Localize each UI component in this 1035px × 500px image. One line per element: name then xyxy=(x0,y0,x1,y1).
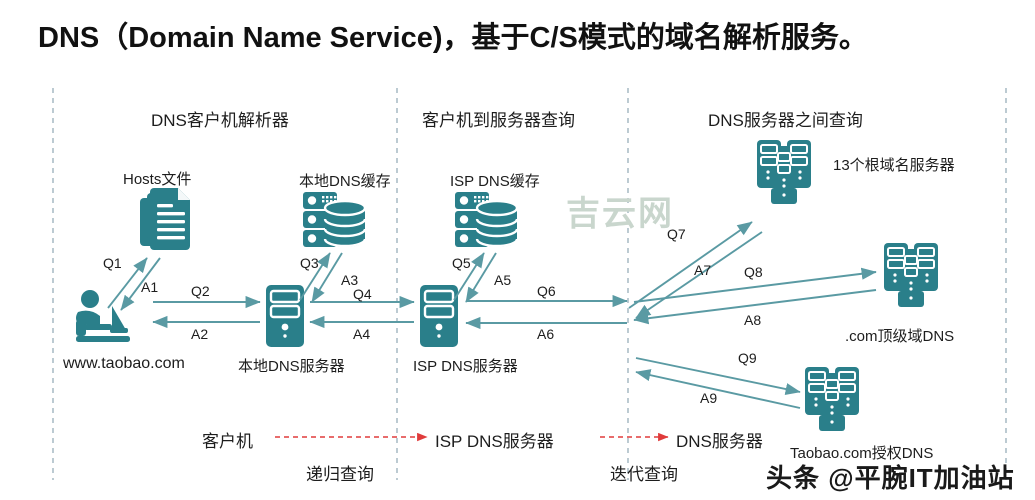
flow-step-isp-server: ISP DNS服务器 xyxy=(435,427,554,452)
message-label-a8: A8 xyxy=(744,312,761,328)
message-label-q4: Q4 xyxy=(353,286,372,302)
node-label-tld-dns: .com顶级域DNS xyxy=(845,325,954,346)
diagram-graphics xyxy=(0,0,1035,500)
node-label-client: www.taobao.com xyxy=(63,355,185,373)
database-rack-icon xyxy=(455,192,517,247)
message-label-a6: A6 xyxy=(537,326,554,342)
message-label-a2: A2 xyxy=(191,326,208,342)
watermark-bottom: 头条 @平腕IT加油站 xyxy=(766,458,1015,495)
diagram-canvas: DNS（Domain Name Service)，基于C/S模式的域名解析服务。 xyxy=(0,0,1035,500)
arrow-q9 xyxy=(636,358,800,392)
server-tower-icon xyxy=(420,285,458,347)
message-label-q8: Q8 xyxy=(744,264,763,280)
watermark-middle: 吉云网 xyxy=(566,186,674,235)
server-cluster-icon xyxy=(757,140,811,204)
flow-step-client: 客户机 xyxy=(202,427,253,452)
column-header-server-to-server: DNS服务器之间查询 xyxy=(708,106,863,131)
message-label-q6: Q6 xyxy=(537,283,556,299)
document-stack-icon xyxy=(140,188,190,250)
flow-arrow-label-iterative: 迭代查询 xyxy=(610,460,678,485)
arrow-a9 xyxy=(636,372,800,408)
message-label-a7: A7 xyxy=(694,262,711,278)
message-label-q2: Q2 xyxy=(191,283,210,299)
person-laptop-icon xyxy=(76,290,130,342)
message-label-q3: Q3 xyxy=(300,255,319,271)
message-label-q5: Q5 xyxy=(452,255,471,271)
node-label-isp-dns-cache: ISP DNS缓存 xyxy=(450,170,540,191)
node-label-isp-dns-server: ISP DNS服务器 xyxy=(413,355,518,376)
message-label-a4: A4 xyxy=(353,326,370,342)
flow-step-dns-server: DNS服务器 xyxy=(676,427,763,452)
node-label-local-dns-cache: 本地DNS缓存 xyxy=(299,170,391,191)
server-tower-icon xyxy=(266,285,304,347)
node-label-hosts-file: Hosts文件 xyxy=(123,168,191,189)
message-label-a1: A1 xyxy=(141,279,158,295)
column-header-client-to-server: 客户机到服务器查询 xyxy=(422,106,575,131)
server-cluster-icon xyxy=(805,367,859,431)
message-label-q9: Q9 xyxy=(738,350,757,366)
message-label-a5: A5 xyxy=(494,272,511,288)
node-label-local-dns-server: 本地DNS服务器 xyxy=(238,355,345,376)
message-label-q1: Q1 xyxy=(103,255,122,271)
flow-arrow-label-recursive: 递归查询 xyxy=(306,460,374,485)
database-rack-icon xyxy=(303,192,365,247)
node-label-root-dns: 13个根域名服务器 xyxy=(833,154,955,175)
message-label-a9: A9 xyxy=(700,390,717,406)
column-header-resolver: DNS客户机解析器 xyxy=(151,106,289,131)
server-cluster-icon xyxy=(884,243,938,307)
